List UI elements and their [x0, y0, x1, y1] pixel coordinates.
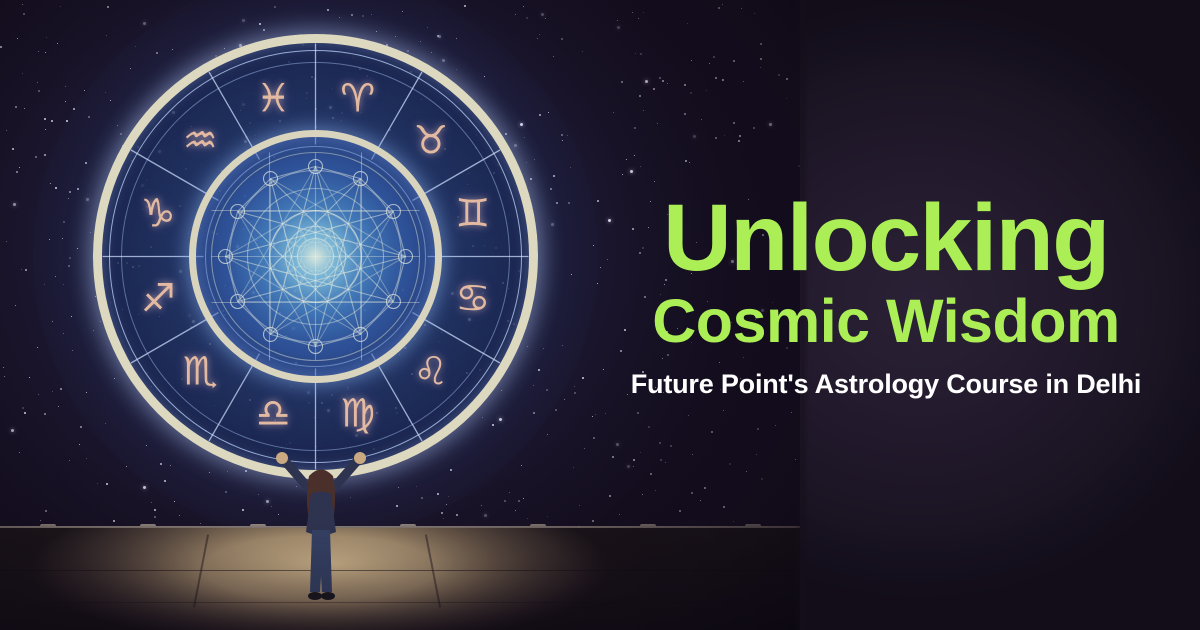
zodiac-glyph-cancer: ♋: [455, 279, 490, 318]
zodiac-glyph-leo: ♌: [413, 352, 448, 391]
zodiac-glyph-aries: ♈: [340, 80, 375, 119]
headline-line-2: Cosmic Wisdom: [626, 287, 1146, 355]
zodiac-glyph-libra: ♎: [256, 394, 291, 433]
zodiac-wheel: ♓♈♉♊♋♌♍♎♏♐♑♒: [93, 34, 538, 479]
headline-line-1: Unlocking: [626, 192, 1146, 285]
zodiac-glyph-capricorn: ♑: [141, 195, 176, 234]
person-silhouette: [262, 450, 380, 602]
zodiac-glyph-taurus: ♉: [413, 122, 448, 161]
zodiac-glyph-aquarius: ♒: [183, 122, 218, 161]
zodiac-glyph-scorpio: ♏: [183, 352, 218, 391]
zodiac-glyph-virgo: ♍: [340, 394, 375, 433]
zodiac-glyph-gemini: ♊: [455, 195, 490, 234]
headline-subtitle: Future Point's Astrology Course in Delhi: [626, 367, 1146, 403]
mandala-geometry: [93, 34, 538, 479]
promo-banner: ♓♈♉♊♋♌♍♎♏♐♑♒: [0, 0, 1200, 630]
headline-block: Unlocking Cosmic Wisdom Future Point's A…: [626, 192, 1146, 403]
stage-floor: [0, 528, 800, 630]
zodiac-glyph-sagittarius: ♐: [141, 279, 176, 318]
zodiac-glyph-pisces: ♓: [256, 80, 291, 119]
